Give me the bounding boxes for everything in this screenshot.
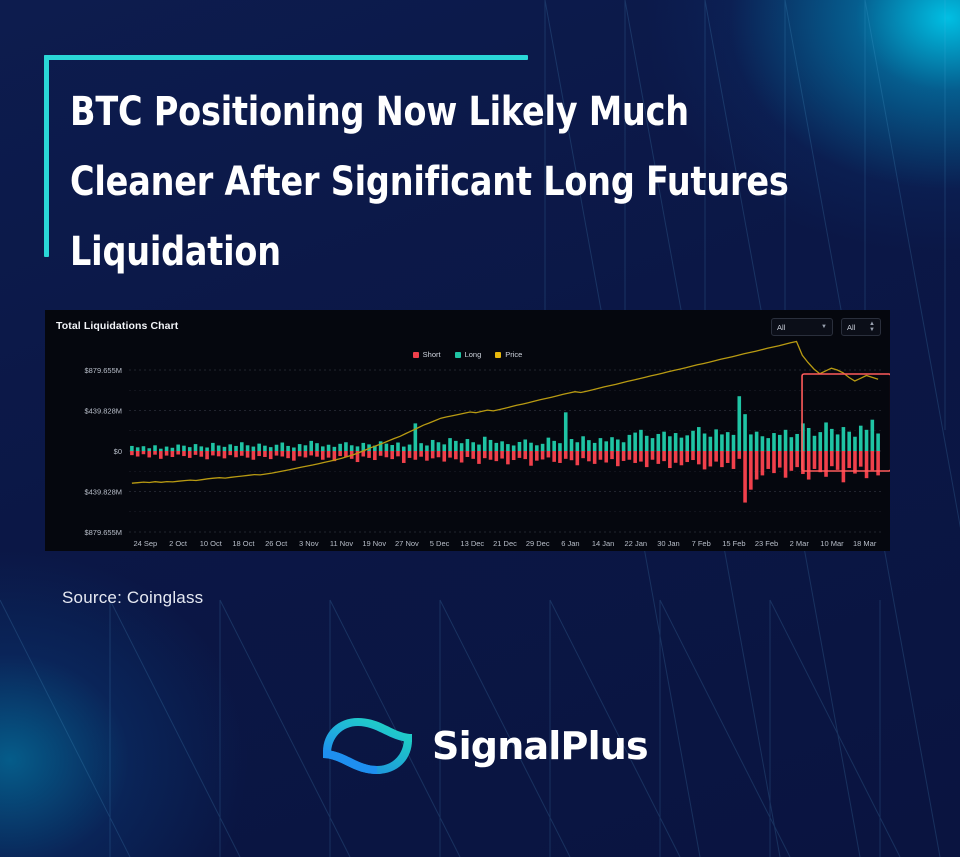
svg-text:30 Jan: 30 Jan bbox=[657, 539, 680, 548]
svg-text:7 Feb: 7 Feb bbox=[692, 539, 711, 548]
svg-text:19 Nov: 19 Nov bbox=[362, 539, 386, 548]
svg-text:11 Nov: 11 Nov bbox=[330, 539, 353, 548]
liquidations-chart-panel: Total Liquidations Chart All ▼ All ▲▼ Sh… bbox=[45, 310, 890, 551]
title-block: BTC Positioning Now Likely Much Cleaner … bbox=[44, 55, 924, 287]
svg-text:2 Mar: 2 Mar bbox=[790, 539, 810, 548]
svg-text:3 Nov: 3 Nov bbox=[299, 539, 319, 548]
svg-text:$879.655M: $879.655M bbox=[84, 366, 122, 375]
source-label: Source: Coinglass bbox=[62, 588, 203, 608]
signalplus-wave-icon bbox=[320, 712, 418, 780]
svg-text:24 Sep: 24 Sep bbox=[133, 539, 157, 548]
svg-text:26 Oct: 26 Oct bbox=[265, 539, 288, 548]
signalplus-logo: SignalPlus bbox=[320, 712, 648, 780]
svg-text:29 Dec: 29 Dec bbox=[526, 539, 550, 548]
svg-text:2 Oct: 2 Oct bbox=[169, 539, 188, 548]
page-title: BTC Positioning Now Likely Much Cleaner … bbox=[44, 55, 862, 287]
svg-text:23 Feb: 23 Feb bbox=[755, 539, 778, 548]
svg-text:$879.655M: $879.655M bbox=[84, 528, 122, 537]
svg-text:10 Mar: 10 Mar bbox=[820, 539, 844, 548]
plot-area: $879.655M$439.828M$0$439.828M$879.655M$8… bbox=[45, 310, 890, 551]
svg-text:27 Nov: 27 Nov bbox=[395, 539, 419, 548]
svg-text:$0: $0 bbox=[114, 447, 122, 456]
svg-text:5 Dec: 5 Dec bbox=[430, 539, 450, 548]
svg-text:22 Jan: 22 Jan bbox=[625, 539, 648, 548]
svg-text:21 Dec: 21 Dec bbox=[493, 539, 517, 548]
svg-text:18 Oct: 18 Oct bbox=[232, 539, 255, 548]
liquidations-plot: $879.655M$439.828M$0$439.828M$879.655M$8… bbox=[45, 310, 890, 551]
svg-text:$439.828M: $439.828M bbox=[84, 406, 122, 415]
svg-text:$439.828M: $439.828M bbox=[84, 487, 122, 496]
brand-name: SignalPlus bbox=[432, 724, 648, 768]
svg-text:15 Feb: 15 Feb bbox=[722, 539, 745, 548]
svg-text:13 Dec: 13 Dec bbox=[460, 539, 484, 548]
svg-text:10 Oct: 10 Oct bbox=[200, 539, 223, 548]
svg-text:6 Jan: 6 Jan bbox=[561, 539, 579, 548]
svg-text:18 Mar: 18 Mar bbox=[853, 539, 877, 548]
svg-text:14 Jan: 14 Jan bbox=[592, 539, 615, 548]
